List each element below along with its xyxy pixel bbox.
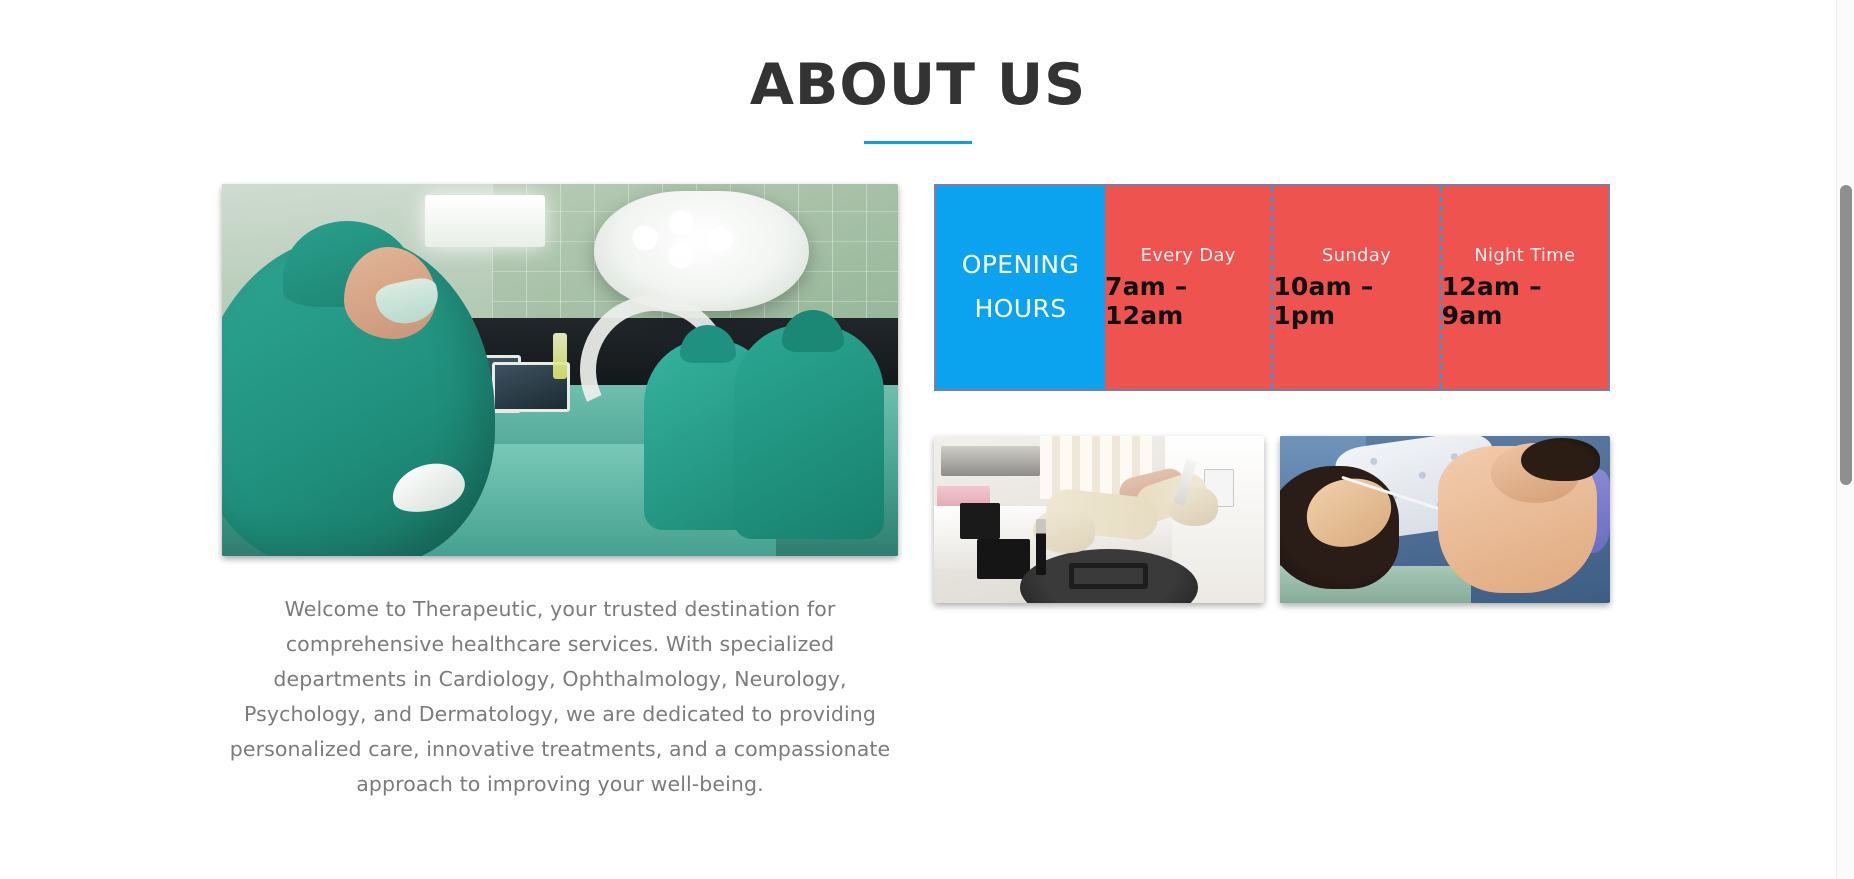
about-thumbnail-row — [934, 436, 1610, 603]
about-paragraph: Welcome to Therapeutic, your trusted des… — [222, 592, 898, 802]
about-section-header: ABOUT US — [0, 0, 1836, 144]
opening-hours-label: OPENING HOURS — [936, 186, 1105, 389]
maternity-illustration — [1280, 436, 1610, 603]
laboratory-illustration — [934, 436, 1264, 603]
opening-hours-day-label: Sunday — [1322, 245, 1391, 266]
laboratory-thumbnail-image — [934, 436, 1264, 603]
opening-hours-day-label: Night Time — [1474, 245, 1575, 266]
opening-hours-box: OPENING HOURS Every Day 7am – 12am Sunda… — [934, 184, 1610, 391]
page-scrollbar-thumb[interactable] — [1840, 185, 1852, 485]
opening-hours-time-value: 12am – 9am — [1442, 272, 1608, 330]
about-left-column: Welcome to Therapeutic, your trusted des… — [222, 184, 898, 802]
operating-room-illustration — [222, 184, 898, 556]
page-viewport: ABOUT US — [0, 0, 1836, 879]
opening-hours-time-value: 7am – 12am — [1105, 272, 1271, 330]
maternity-thumbnail-image — [1280, 436, 1610, 603]
opening-hours-day-label: Every Day — [1141, 245, 1236, 266]
opening-hours-label-line1: OPENING — [962, 243, 1080, 287]
title-underline-divider — [864, 141, 972, 144]
opening-hours-cell-sunday: Sunday 10am – 1pm — [1271, 186, 1439, 389]
opening-hours-cell-every-day: Every Day 7am – 12am — [1105, 186, 1271, 389]
page-title: ABOUT US — [0, 56, 1836, 116]
opening-hours-label-line2: HOURS — [974, 287, 1066, 331]
opening-hours-cell-night-time: Night Time 12am – 9am — [1440, 186, 1608, 389]
page-scrollbar-track[interactable] — [1836, 0, 1854, 879]
about-right-column: OPENING HOURS Every Day 7am – 12am Sunda… — [934, 184, 1610, 603]
surgery-hero-image — [222, 184, 898, 556]
opening-hours-cells: Every Day 7am – 12am Sunday 10am – 1pm N… — [1105, 186, 1608, 389]
opening-hours-time-value: 10am – 1pm — [1273, 272, 1439, 330]
